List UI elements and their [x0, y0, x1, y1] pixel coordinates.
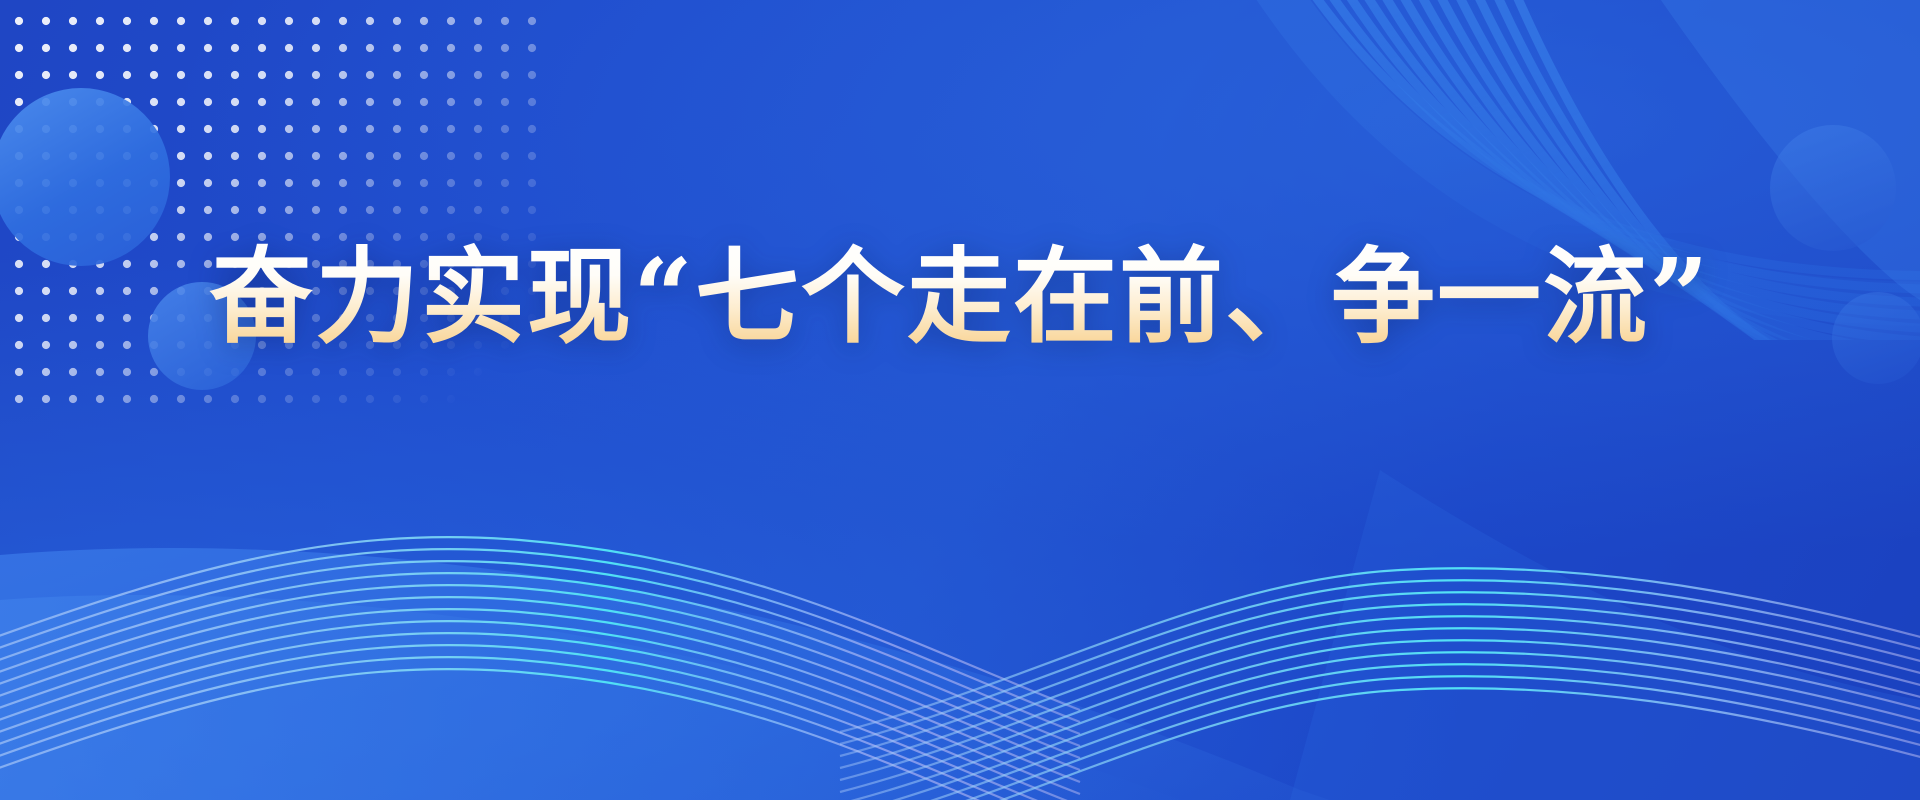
circle-blob-right-upper — [1770, 125, 1896, 251]
headline-container: 奋力实现“七个走在前、争一流” — [0, 236, 1920, 359]
promo-banner: 奋力实现“七个走在前、争一流” — [0, 0, 1920, 800]
banner-headline: 奋力实现“七个走在前、争一流” — [209, 236, 1711, 359]
